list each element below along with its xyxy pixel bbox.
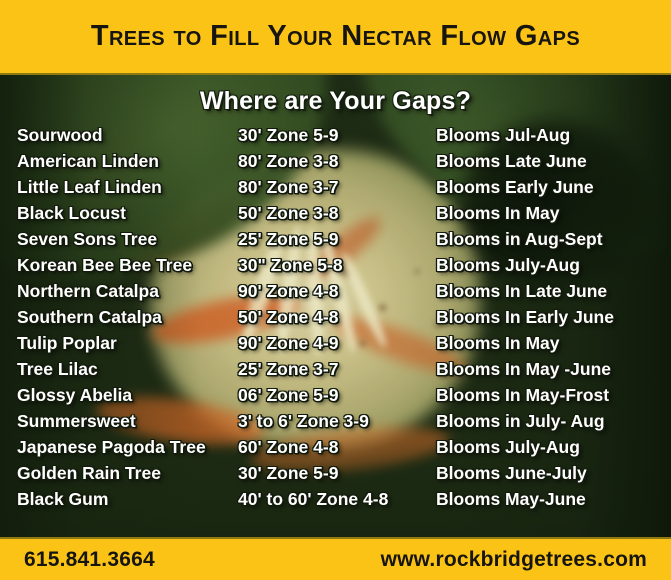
- tree-bloom-time: Blooms Late June: [436, 151, 671, 172]
- tree-size-zone: 90' Zone 4-9: [238, 333, 436, 354]
- tree-name: Black Locust: [0, 203, 238, 224]
- tree-size-zone: 30' Zone 5-9: [238, 463, 436, 484]
- table-row: Tree Lilac25' Zone 3-7Blooms In May -Jun…: [0, 359, 671, 385]
- table-row: Southern Catalpa50' Zone 4-8Blooms In Ea…: [0, 307, 671, 333]
- website-url[interactable]: www.rockbridgetrees.com: [381, 548, 647, 572]
- tree-size-zone: 50' Zone 4-8: [238, 307, 436, 328]
- table-row: Little Leaf Linden80' Zone 3-7Blooms Ear…: [0, 177, 671, 203]
- table-row: Sourwood30' Zone 5-9Blooms Jul-Aug: [0, 125, 671, 151]
- tree-size-zone: 30" Zone 5-8: [238, 255, 436, 276]
- tree-bloom-time: Blooms In Early June: [436, 307, 671, 328]
- tree-bloom-time: Blooms Early June: [436, 177, 671, 198]
- tree-bloom-time: Blooms June-July: [436, 463, 671, 484]
- tree-bloom-time: Blooms in Aug-Sept: [436, 229, 671, 250]
- phone-number[interactable]: 615.841.3664: [24, 548, 155, 572]
- tree-name: Japanese Pagoda Tree: [0, 437, 238, 458]
- tree-name: Black Gum: [0, 489, 238, 510]
- table-row: Northern Catalpa90' Zone 4-8Blooms In La…: [0, 281, 671, 307]
- tree-bloom-time: Blooms Jul-Aug: [436, 125, 671, 146]
- tree-name: Little Leaf Linden: [0, 177, 238, 198]
- tree-table: Sourwood30' Zone 5-9Blooms Jul-AugAmeric…: [0, 125, 671, 515]
- page-title: Trees to Fill Your Nectar Flow Gaps: [91, 20, 580, 53]
- table-row: Black Locust50' Zone 3-8Blooms In May: [0, 203, 671, 229]
- tree-name: Korean Bee Bee Tree: [0, 255, 238, 276]
- table-row: Golden Rain Tree30' Zone 5-9Blooms June-…: [0, 463, 671, 489]
- tree-bloom-time: Blooms July-Aug: [436, 255, 671, 276]
- tree-bloom-time: Blooms In May-Frost: [436, 385, 671, 406]
- table-row: Seven Sons Tree25' Zone 5-9Blooms in Aug…: [0, 229, 671, 255]
- tree-size-zone: 30' Zone 5-9: [238, 125, 436, 146]
- table-row: American Linden80' Zone 3-8Blooms Late J…: [0, 151, 671, 177]
- tree-name: Summersweet: [0, 411, 238, 432]
- tree-size-zone: 06' Zone 5-9: [238, 385, 436, 406]
- tree-name: Tulip Poplar: [0, 333, 238, 354]
- tree-bloom-time: Blooms In May -June: [436, 359, 671, 380]
- tree-name: Tree Lilac: [0, 359, 238, 380]
- tree-size-zone: 60' Zone 4-8: [238, 437, 436, 458]
- tree-size-zone: 3' to 6' Zone 3-9: [238, 411, 436, 432]
- tree-size-zone: 90' Zone 4-8: [238, 281, 436, 302]
- tree-size-zone: 80' Zone 3-8: [238, 151, 436, 172]
- table-row: Japanese Pagoda Tree60' Zone 4-8Blooms J…: [0, 437, 671, 463]
- tree-bloom-time: Blooms May-June: [436, 489, 671, 510]
- poster: Trees to Fill Your Nectar Flow Gaps Wher…: [0, 0, 671, 580]
- main-content: Where are Your Gaps? Sourwood30' Zone 5-…: [0, 75, 671, 537]
- tree-size-zone: 80' Zone 3-7: [238, 177, 436, 198]
- tree-bloom-time: Blooms In Late June: [436, 281, 671, 302]
- tree-name: Southern Catalpa: [0, 307, 238, 328]
- tree-size-zone: 25' Zone 3-7: [238, 359, 436, 380]
- table-row: Glossy Abelia06' Zone 5-9Blooms In May-F…: [0, 385, 671, 411]
- tree-bloom-time: Blooms in July- Aug: [436, 411, 671, 432]
- table-row: Tulip Poplar90' Zone 4-9Blooms In May: [0, 333, 671, 359]
- tree-name: American Linden: [0, 151, 238, 172]
- tree-name: Seven Sons Tree: [0, 229, 238, 250]
- footer-band: 615.841.3664 www.rockbridgetrees.com: [0, 537, 671, 580]
- tree-size-zone: 50' Zone 3-8: [238, 203, 436, 224]
- table-row: Summersweet3' to 6' Zone 3-9Blooms in Ju…: [0, 411, 671, 437]
- tree-name: Northern Catalpa: [0, 281, 238, 302]
- table-row: Black Gum40' to 60' Zone 4-8Blooms May-J…: [0, 489, 671, 515]
- tree-bloom-time: Blooms In May: [436, 333, 671, 354]
- header-band: Trees to Fill Your Nectar Flow Gaps: [0, 0, 671, 75]
- tree-size-zone: 40' to 60' Zone 4-8: [238, 489, 436, 510]
- tree-name: Golden Rain Tree: [0, 463, 238, 484]
- tree-name: Sourwood: [0, 125, 238, 146]
- tree-name: Glossy Abelia: [0, 385, 238, 406]
- tree-bloom-time: Blooms In May: [436, 203, 671, 224]
- table-row: Korean Bee Bee Tree30" Zone 5-8Blooms Ju…: [0, 255, 671, 281]
- tree-bloom-time: Blooms July-Aug: [436, 437, 671, 458]
- subtitle: Where are Your Gaps?: [0, 87, 671, 116]
- tree-size-zone: 25' Zone 5-9: [238, 229, 436, 250]
